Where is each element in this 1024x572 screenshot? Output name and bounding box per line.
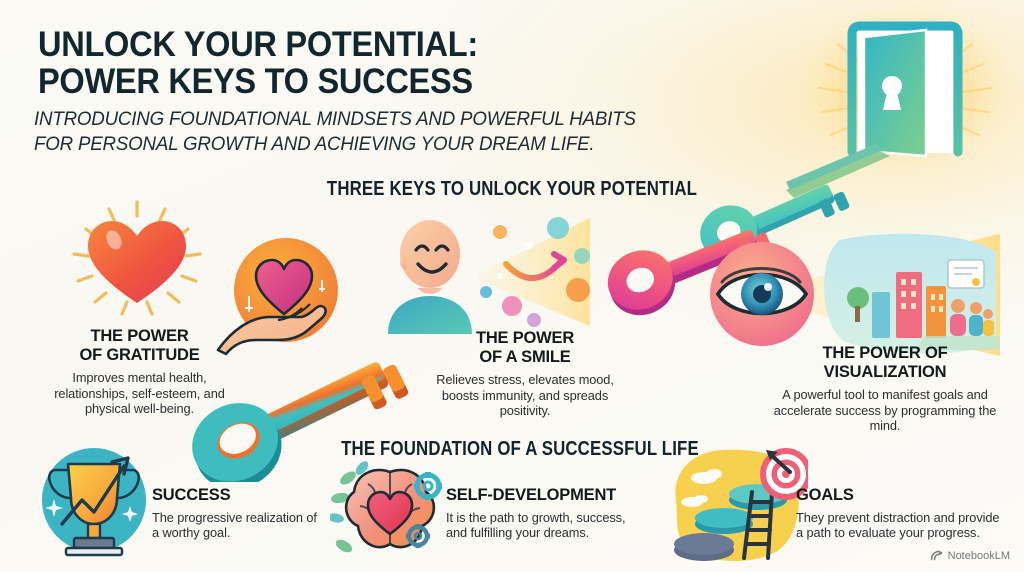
card-smile-title-line-2: OF A SMILE: [420, 348, 630, 367]
card-self-development: SELF-DEVELOPMENT It is the path to growt…: [446, 486, 636, 541]
card-visualization-title-line-1: THE POWER OF: [760, 344, 1010, 363]
card-goals-title: GOALS: [796, 486, 1001, 505]
card-smile-body: Relieves stress, elevates mood, boosts i…: [420, 372, 630, 419]
heart-with-rays-icon: [62, 196, 212, 326]
card-self-development-title: SELF-DEVELOPMENT: [446, 486, 636, 505]
hand-holding-heart-icon: [216, 232, 356, 356]
card-success: SUCCESS The progressive realization of a…: [152, 486, 322, 541]
card-self-development-body: It is the path to growth, success, and f…: [446, 510, 636, 541]
card-goals: GOALS They prevent distraction and provi…: [796, 486, 1001, 541]
card-goals-body: They prevent distraction and provide a p…: [796, 510, 1001, 541]
card-smile-title-line-1: THE POWER: [420, 329, 630, 348]
trophy-icon: [32, 442, 156, 566]
page-title-line-1: UNLOCK YOUR POTENTIAL:: [38, 26, 478, 63]
brain-heart-gears-icon: [330, 450, 450, 568]
page-title-line-2: POWER KEYS TO SUCCESS: [38, 63, 478, 100]
notebooklm-logo-icon: [930, 549, 943, 562]
eye-vision-icon: [700, 232, 1000, 362]
page-subtitle-line-1: INTRODUCING FOUNDATIONAL MINDSETS AND PO…: [34, 107, 636, 132]
watermark-label: NotebookLM: [948, 550, 1010, 562]
card-smile: THE POWER OF A SMILE Relieves stress, el…: [420, 329, 630, 419]
section-title-three-keys: THREE KEYS TO UNLOCK YOUR POTENTIAL: [302, 178, 722, 201]
smiling-person-icon: [382, 214, 592, 340]
card-visualization: THE POWER OF VISUALIZATION A powerful to…: [760, 344, 1010, 434]
card-success-body: The progressive realization of a worthy …: [152, 510, 322, 541]
card-gratitude-title-line-1: THE POWER: [32, 327, 247, 346]
target-ladder-icon: [668, 440, 808, 572]
card-visualization-body: A powerful tool to manifest goals and ac…: [760, 387, 1010, 434]
page-subtitle-line-2: FOR PERSONAL GROWTH AND ACHIEVING YOUR D…: [34, 132, 636, 157]
watermark: NotebookLM: [930, 549, 1010, 562]
card-success-title: SUCCESS: [152, 486, 322, 505]
card-gratitude-body: Improves mental health, relationships, s…: [32, 370, 247, 417]
card-visualization-title-line-2: VISUALIZATION: [760, 363, 1010, 382]
infographic-canvas: UNLOCK YOUR POTENTIAL: POWER KEYS TO SUC…: [0, 0, 1024, 572]
page-title: UNLOCK YOUR POTENTIAL: POWER KEYS TO SUC…: [38, 26, 511, 100]
card-gratitude-title-line-2: OF GRATITUDE: [32, 346, 247, 365]
card-gratitude: THE POWER OF GRATITUDE Improves mental h…: [32, 327, 247, 417]
keyhole-icon: [882, 76, 902, 110]
page-subtitle: INTRODUCING FOUNDATIONAL MINDSETS AND PO…: [34, 107, 661, 157]
